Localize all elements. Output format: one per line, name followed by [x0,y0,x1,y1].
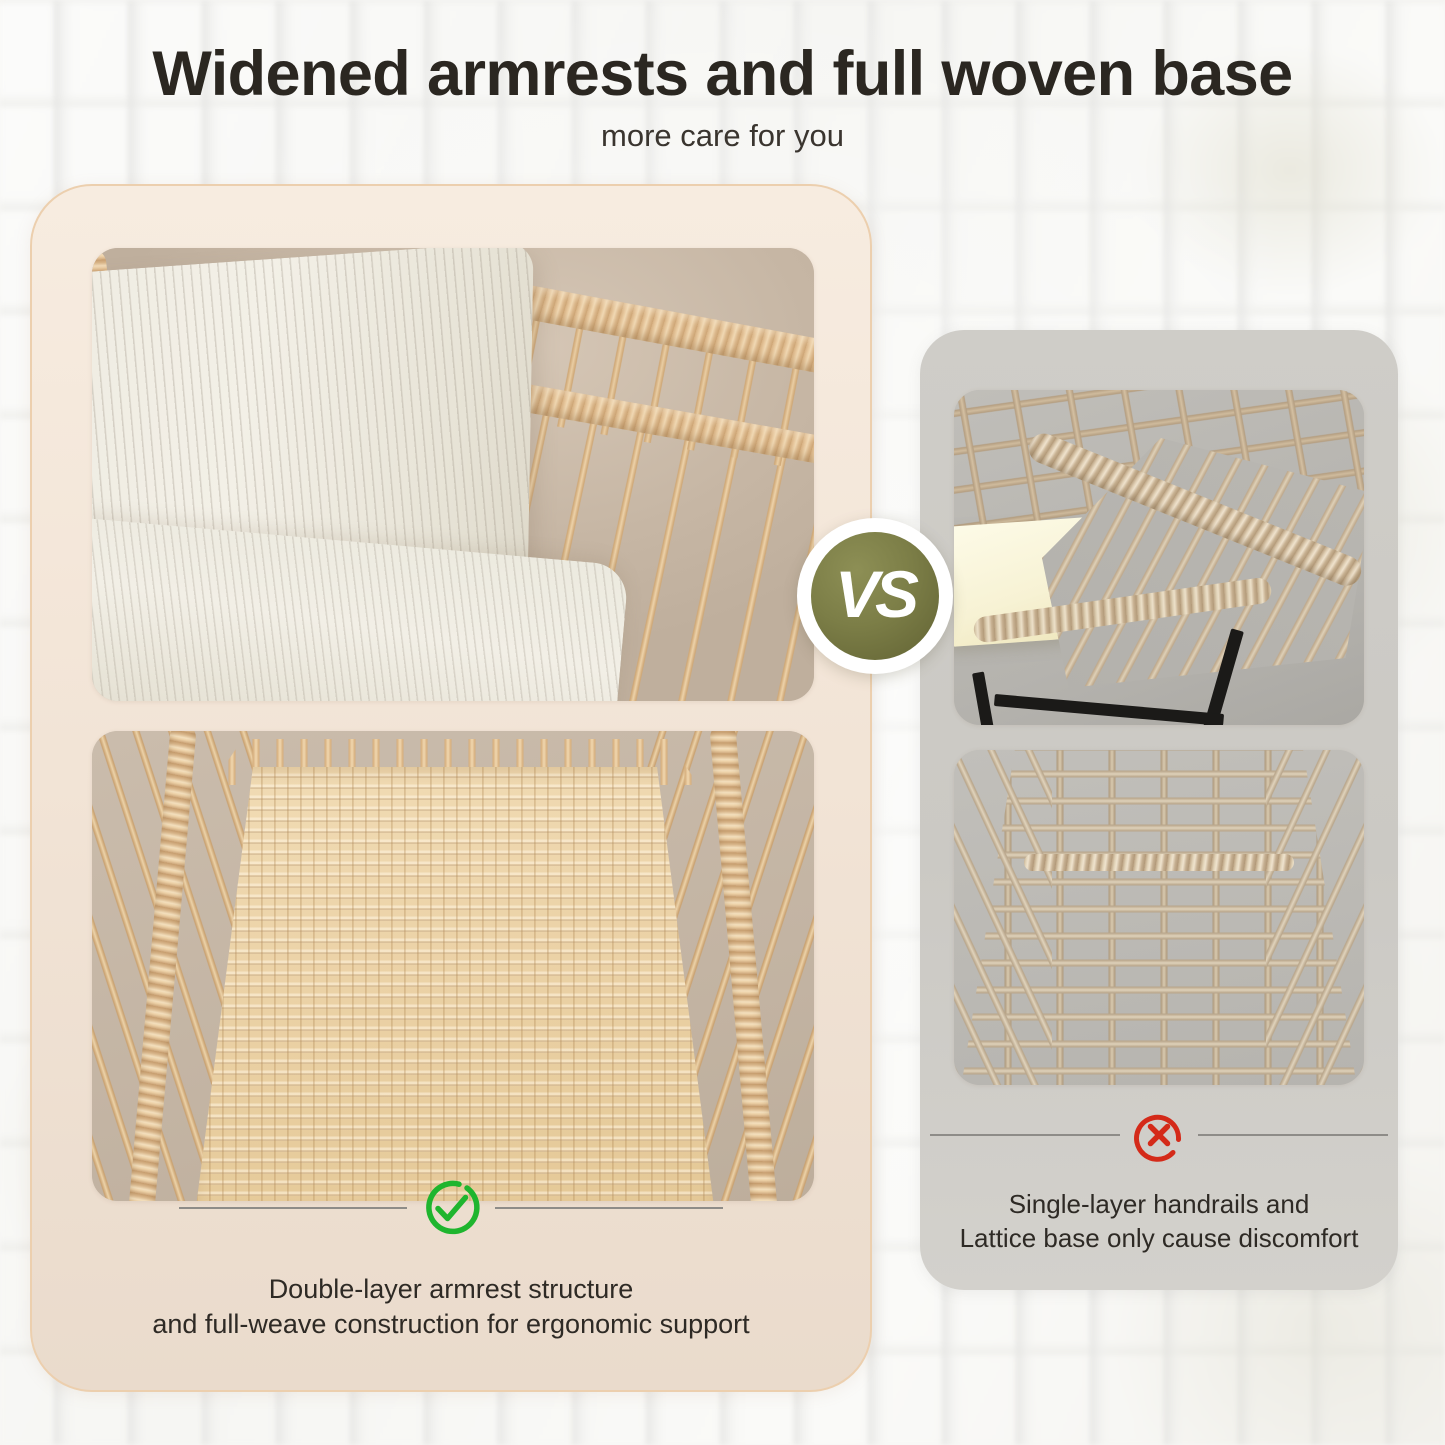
page-title: Widened armrests and full woven base [0,40,1445,108]
tight-weave-panel [196,767,714,1201]
header: Widened armrests and full woven base mor… [0,40,1445,154]
comparison-panel-good: Double-layer armrest structure and full-… [30,184,872,1392]
divider-line-right [1198,1134,1388,1136]
verdict-caption-good: Double-layer armrest structure and full-… [32,1272,870,1342]
lattice-side-right [1266,750,1364,1085]
lattice-side-left [954,750,1052,1085]
divider-line-left [179,1207,407,1209]
photo-single-layer-armrest [954,390,1364,725]
page-subtitle: more care for you [0,118,1445,154]
divider-line-right [495,1207,723,1209]
photo-armrest-closeup [92,248,814,701]
vs-badge: VS [797,518,953,674]
lattice-crossbar [1024,854,1294,871]
comparison-panel-bad: Single-layer handrails and Lattice base … [920,330,1398,1290]
divider-line-left [930,1134,1120,1136]
check-circle-icon [415,1172,487,1244]
photo-lattice-base [954,750,1364,1085]
verdict-rule-row [920,1104,1398,1166]
x-circle-icon [1128,1104,1190,1166]
verdict-bad: Single-layer handrails and Lattice base … [920,1104,1398,1256]
vs-badge-circle: VS [811,532,939,660]
vs-badge-label: VS [835,561,915,627]
verdict-rule-row [32,1172,870,1244]
verdict-caption-bad: Single-layer handrails and Lattice base … [920,1188,1398,1256]
verdict-good: Double-layer armrest structure and full-… [32,1172,870,1342]
photo-woven-seat [92,731,814,1201]
